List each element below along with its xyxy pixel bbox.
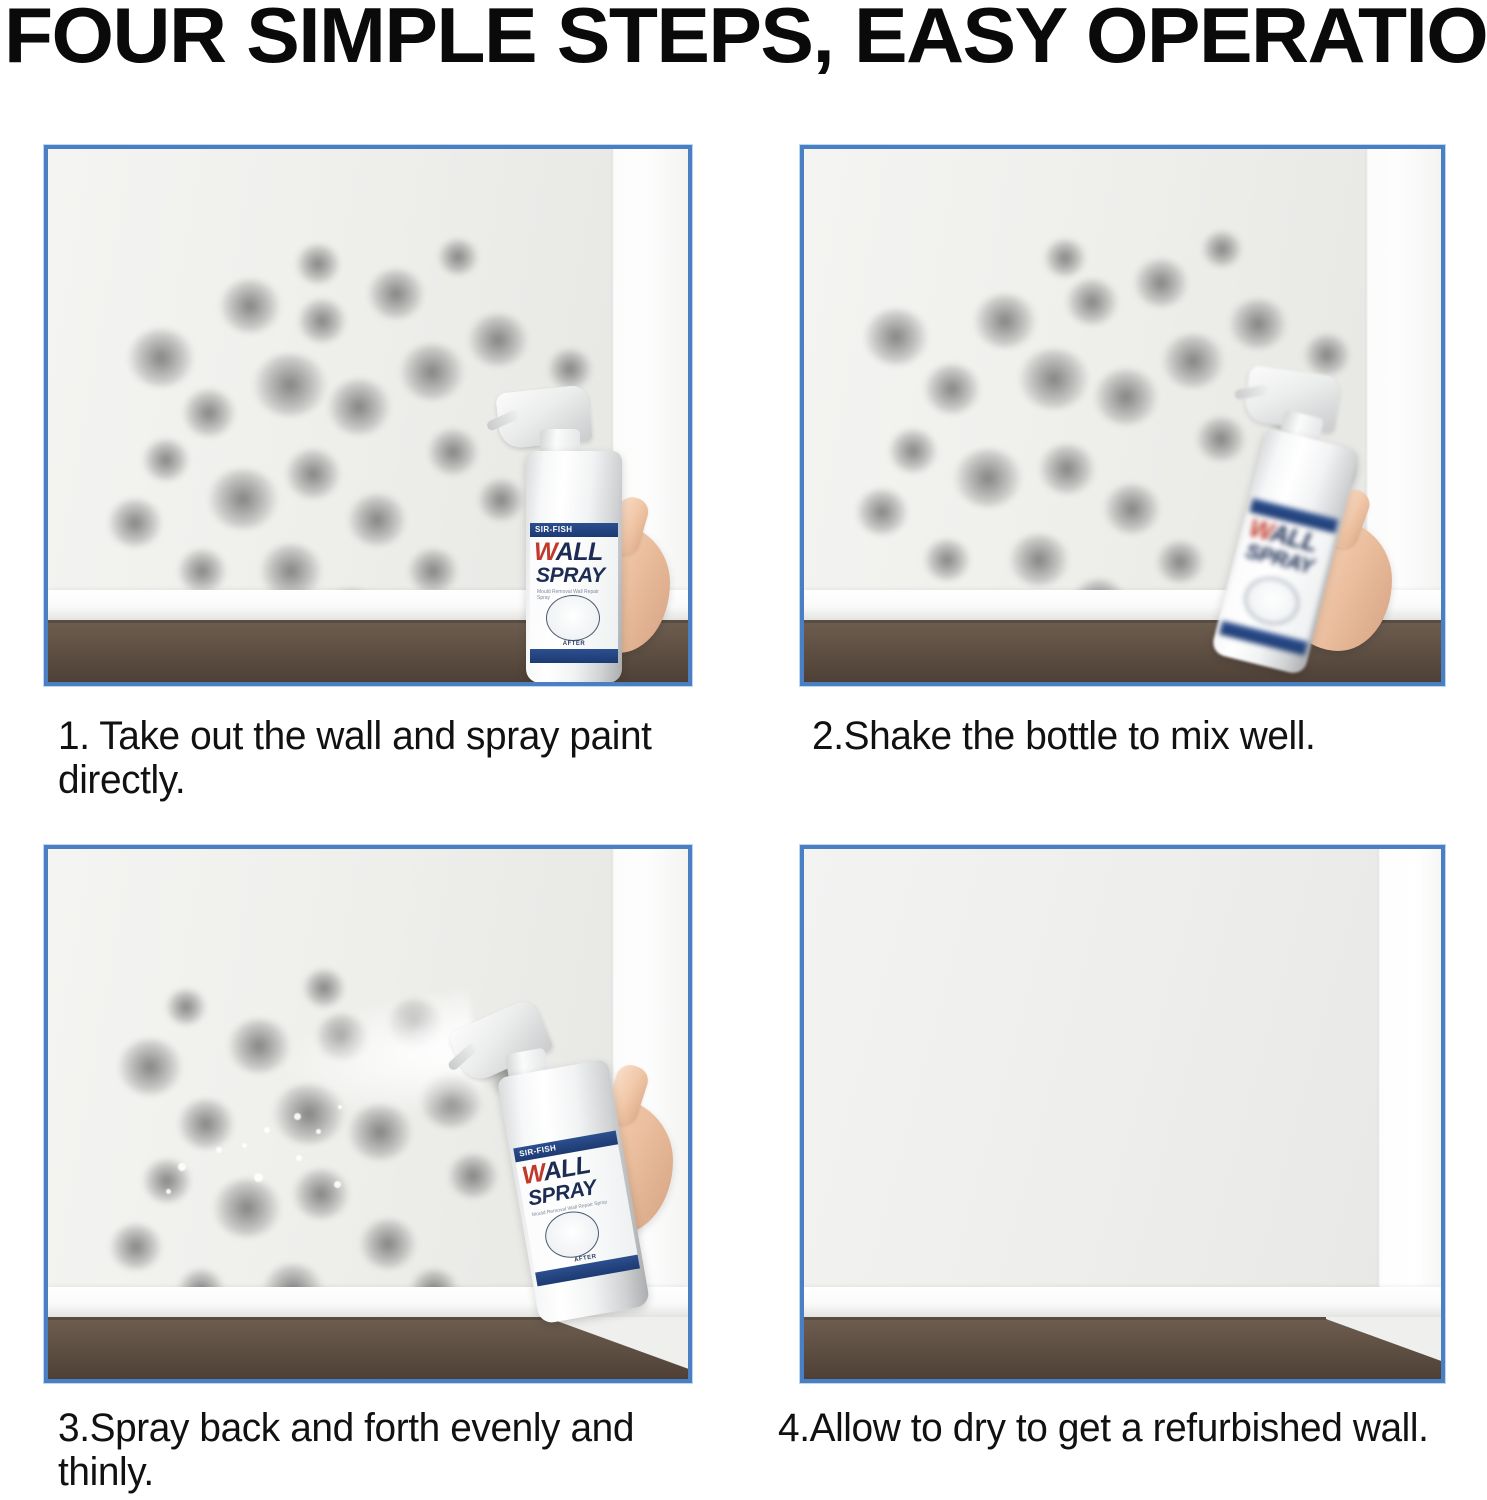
wood-floor (48, 620, 688, 682)
step-2-caption: 2.Shake the bottle to mix well. (812, 714, 1452, 758)
step-3: SIR-FISH WALL SPRAY Mould Removal Wall R… (44, 845, 692, 1383)
step-3-photo: SIR-FISH WALL SPRAY Mould Removal Wall R… (44, 845, 692, 1383)
step-3-caption: 3.Spray back and forth evenly and thinly… (58, 1406, 698, 1494)
floor-perspective-wedge (522, 1317, 688, 1379)
step-4-photo (800, 845, 1445, 1383)
step-4 (800, 845, 1445, 1383)
step-1: SIR-FISH WALL SPRAY Mould Removal Wall R… (44, 145, 692, 686)
step-2: WALL SPRAY (800, 145, 1445, 686)
step-1-caption: 1. Take out the wall and spray paint dir… (58, 714, 698, 802)
wood-floor (804, 620, 1441, 682)
baseboard (804, 1287, 1441, 1317)
floor-perspective-wedge (1326, 1317, 1441, 1379)
step-1-photo: SIR-FISH WALL SPRAY Mould Removal Wall R… (44, 145, 692, 686)
baseboard (48, 590, 688, 620)
baseboard (48, 1287, 688, 1317)
step-4-caption: 4.Allow to dry to get a refurbished wall… (778, 1406, 1457, 1450)
baseboard (804, 590, 1441, 620)
step-2-photo: WALL SPRAY (800, 145, 1445, 686)
